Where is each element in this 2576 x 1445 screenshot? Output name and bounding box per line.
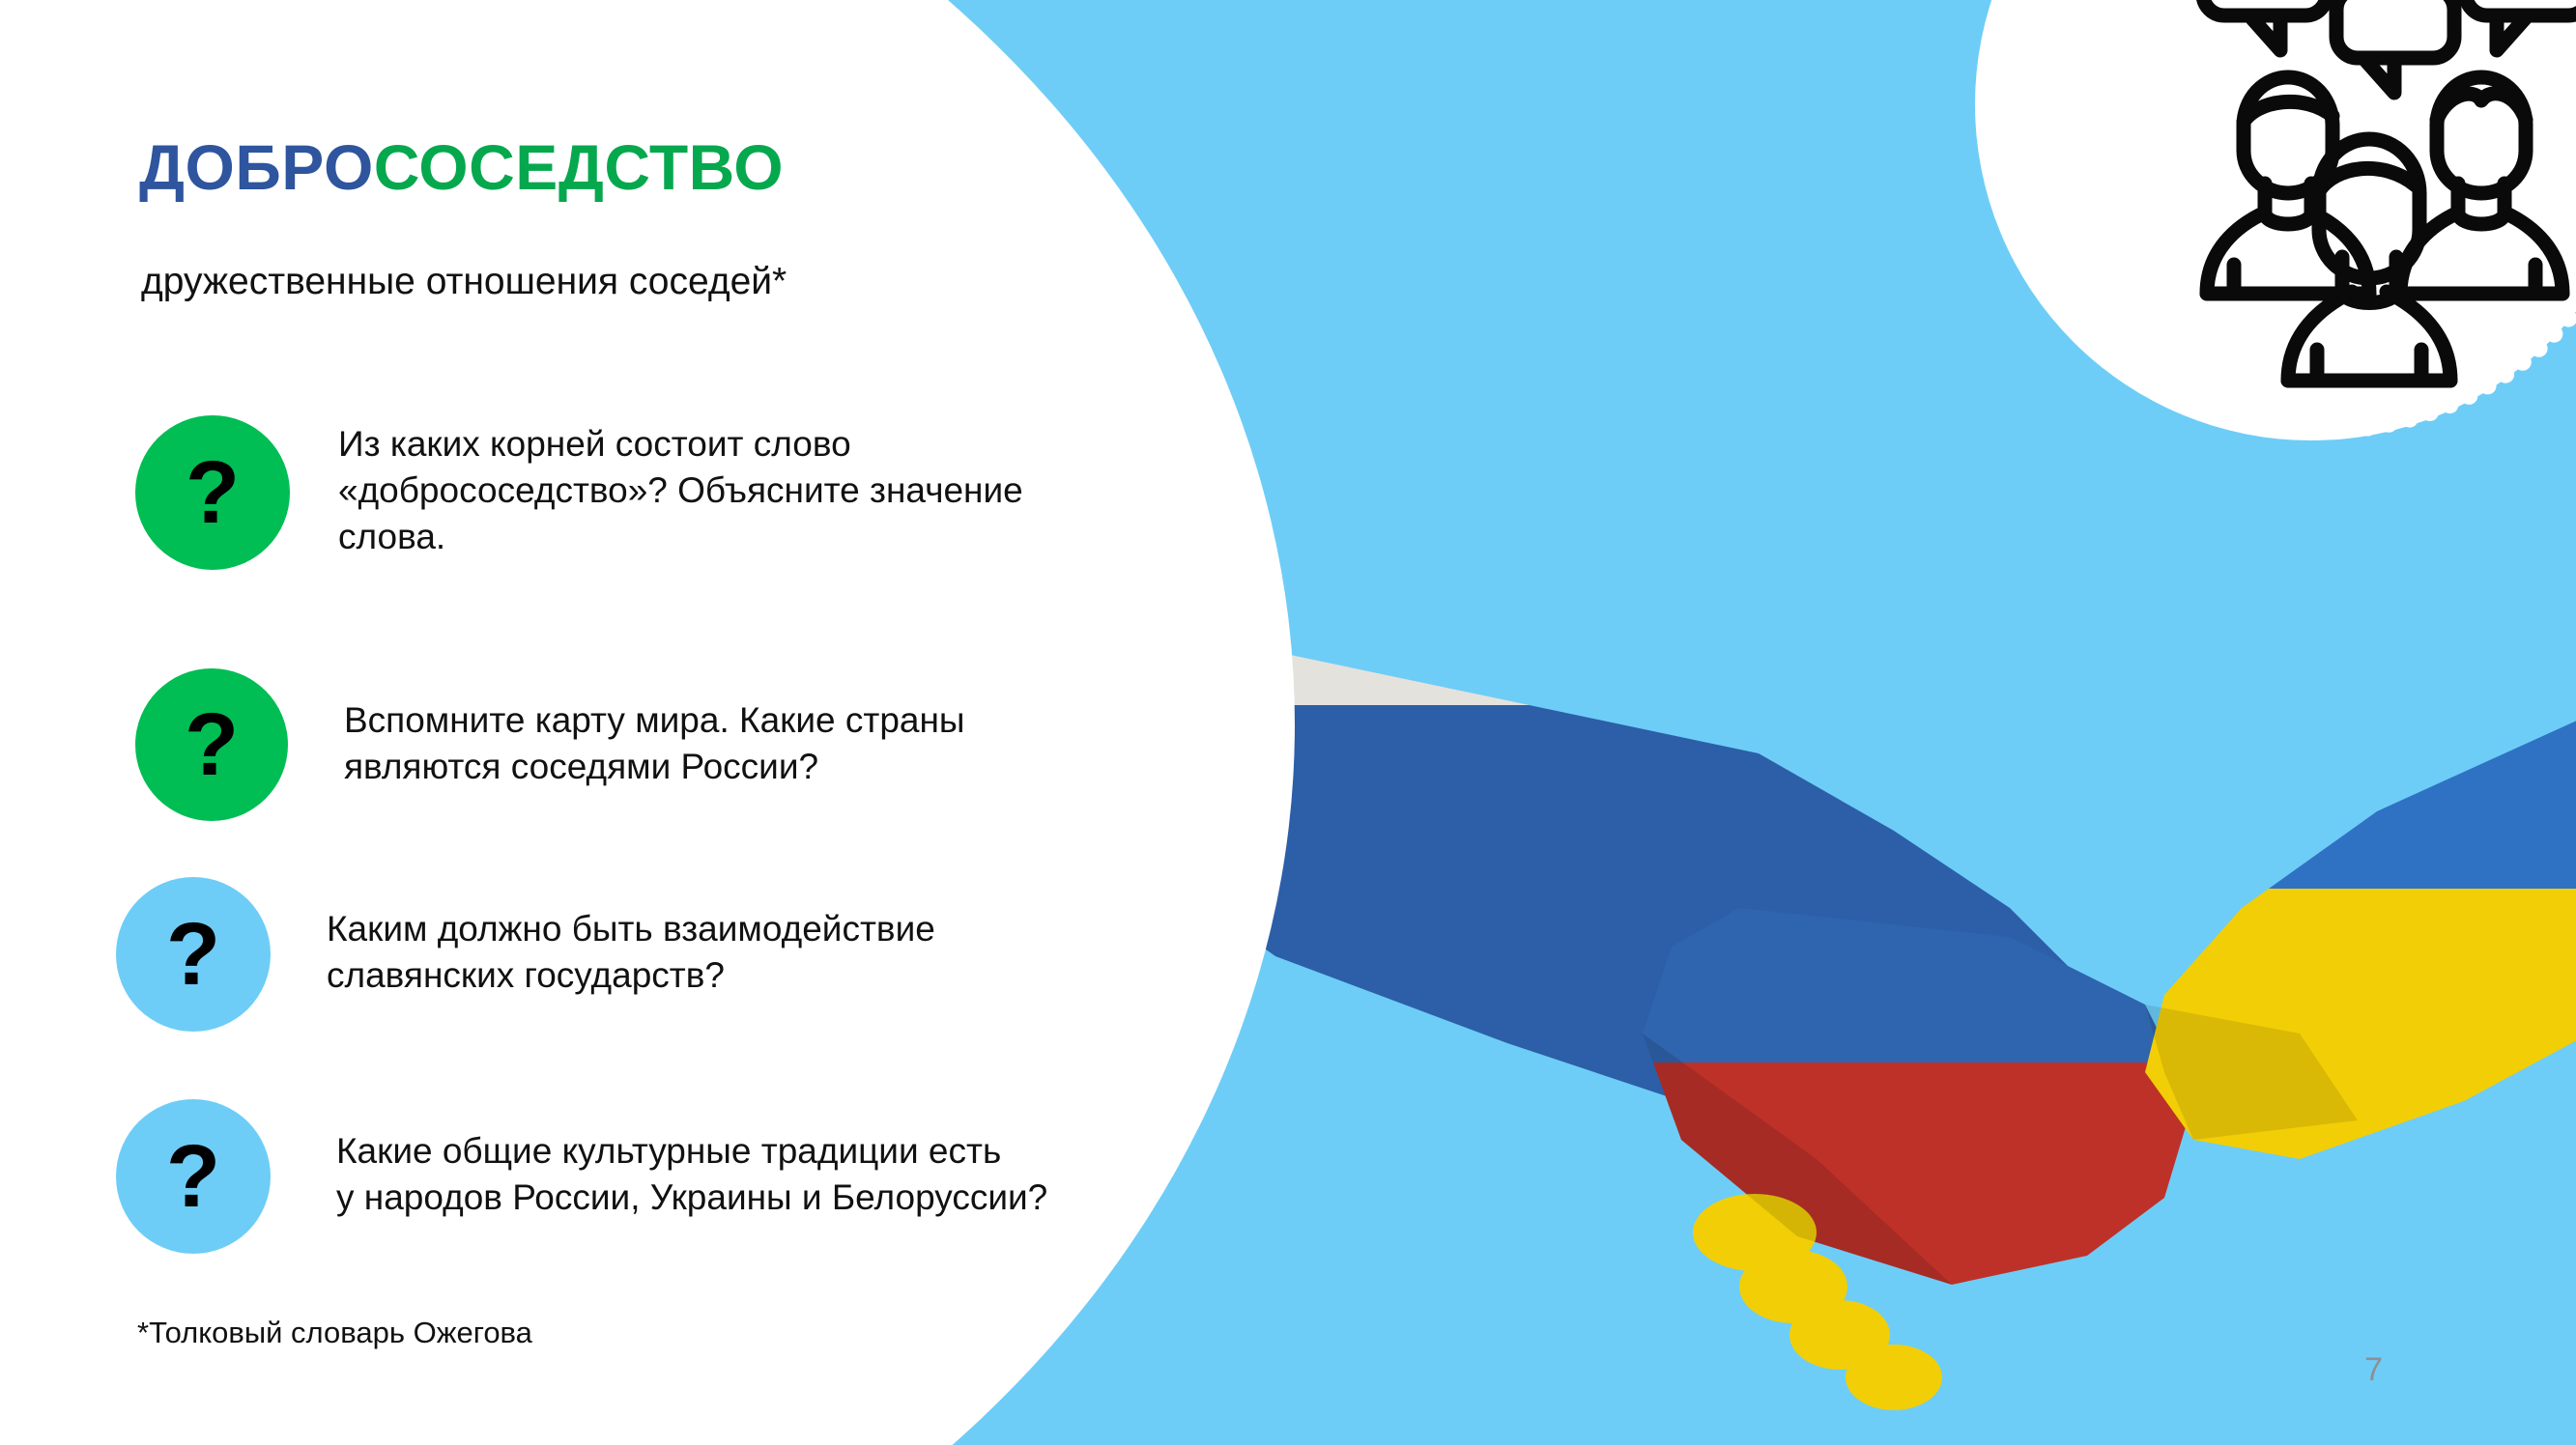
question-marker-1: ?	[135, 415, 290, 570]
source-footnote: *Толковый словарь Ожегова	[137, 1316, 532, 1350]
question-mark-glyph: ?	[166, 1137, 220, 1217]
question-text-3: Каким должно быть взаимодействие славянс…	[327, 906, 1274, 999]
question-mark-glyph: ?	[166, 915, 220, 995]
question-mark-glyph: ?	[186, 453, 240, 533]
question-item-2: ? Вспомните карту мира. Какие страны явл…	[135, 668, 1291, 821]
page-subtitle: дружественные отношения соседей*	[141, 261, 787, 303]
title-part-2: СОСЕДСТВО	[374, 131, 784, 203]
page-number: 7	[2364, 1351, 2383, 1389]
question-marker-3: ?	[116, 877, 271, 1032]
question-text-1: Из каких корней состоит слово «добрососе…	[338, 421, 1285, 560]
question-item-1: ? Из каких корней состоит слово «добросо…	[135, 415, 1285, 570]
question-marker-4: ?	[116, 1099, 271, 1254]
slide-canvas: ДОБРОСОСЕДСТВО дружественные отношения с…	[0, 0, 2576, 1445]
question-item-4: ? Какие общие культурные традиции есть у…	[116, 1099, 1302, 1254]
page-title: ДОБРОСОСЕДСТВО	[139, 135, 784, 199]
question-item-3: ? Каким должно быть взаимодействие славя…	[116, 877, 1274, 1032]
question-mark-glyph: ?	[185, 705, 239, 785]
title-part-1: ДОБРО	[139, 131, 374, 203]
question-text-2: Вспомните карту мира. Какие страны являю…	[344, 697, 1291, 790]
question-marker-2: ?	[135, 668, 288, 821]
question-text-4: Какие общие культурные традиции есть у н…	[336, 1128, 1302, 1221]
